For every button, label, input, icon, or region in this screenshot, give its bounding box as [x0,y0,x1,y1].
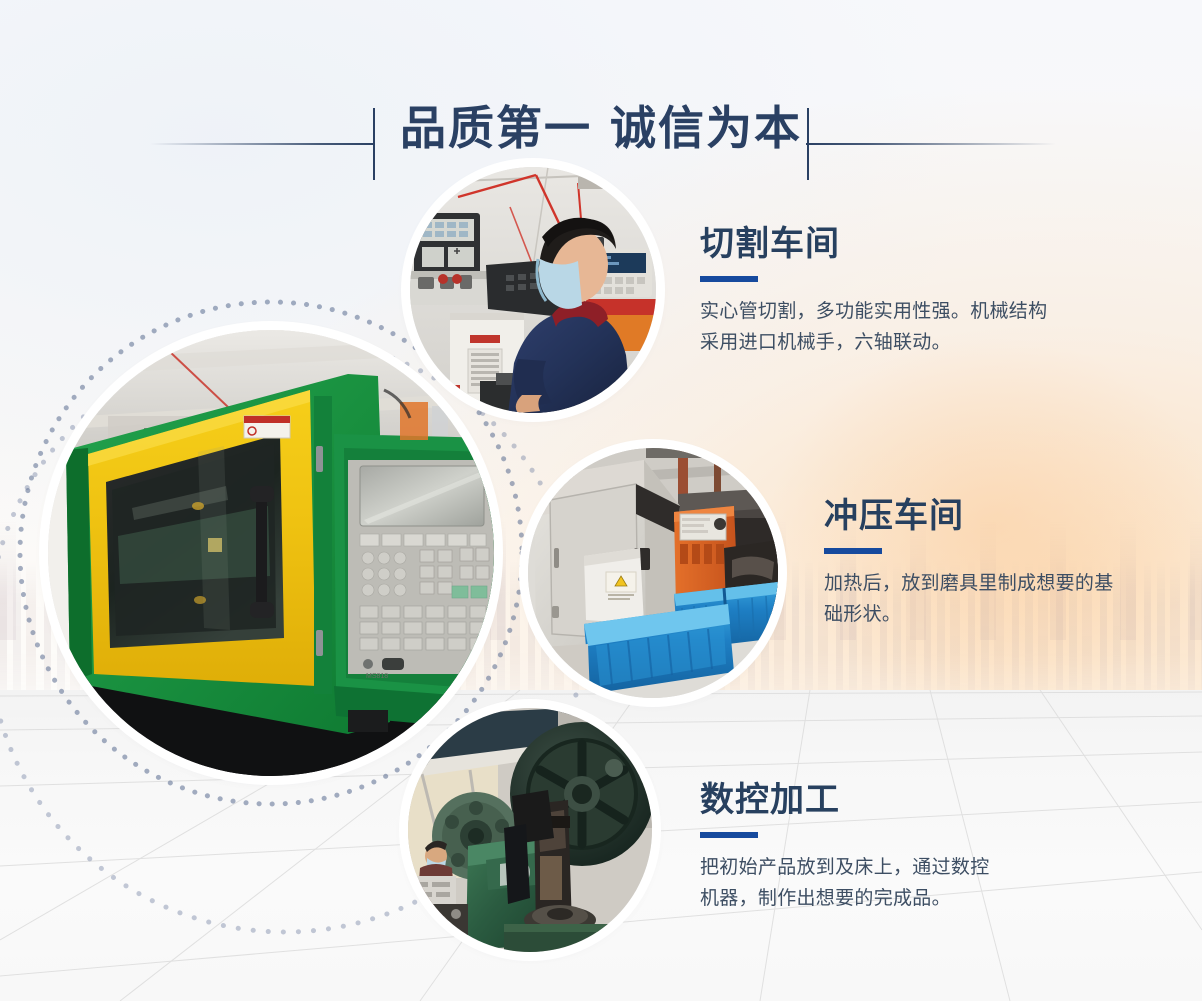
section-rule-stamp [824,548,882,554]
svg-text:40: 40 [428,388,446,405]
svg-text:MS818: MS818 [366,673,388,680]
section-title-cut: 切割车间 [700,222,1047,266]
stamp-photo-art [528,448,778,698]
section-title-cnc: 数控加工 [700,778,990,822]
cut-photo-art: 40 [410,167,656,413]
photo-cnc-machining [408,708,652,952]
cnc-photo-art [408,708,652,952]
section-body-cnc: 把初始产品放到及床上，通过数控 机器，制作出想要的完成品。 [700,852,990,914]
workshop-process-banner: 品质第一 诚信为本 [0,0,1202,1001]
section-cnc-machining: 数控加工 把初始产品放到及床上，通过数控 机器，制作出想要的完成品。 [700,778,990,914]
photo-stamping-workshop [528,448,778,698]
section-title-stamp: 冲压车间 [824,494,1114,538]
page-header: 品质第一 诚信为本 [0,48,1202,114]
section-rule-cnc [700,832,758,838]
header-rule-right [806,143,1056,145]
section-cutting-workshop: 切割车间 实心管切割，多功能实用性强。机械结构 采用进口机械手，六轴联动。 [700,222,1047,358]
section-stamping-workshop: 冲压车间 加热后，放到磨具里制成想要的基 础形状。 [824,494,1114,630]
section-rule-cut [700,276,758,282]
section-body-stamp: 加热后，放到磨具里制成想要的基 础形状。 [824,568,1114,630]
section-body-cut: 实心管切割，多功能实用性强。机械结构 采用进口机械手，六轴联动。 [700,296,1047,358]
page-title: 品质第一 诚信为本 [0,98,1202,158]
photo-cutting-workshop: 40 [410,167,656,413]
